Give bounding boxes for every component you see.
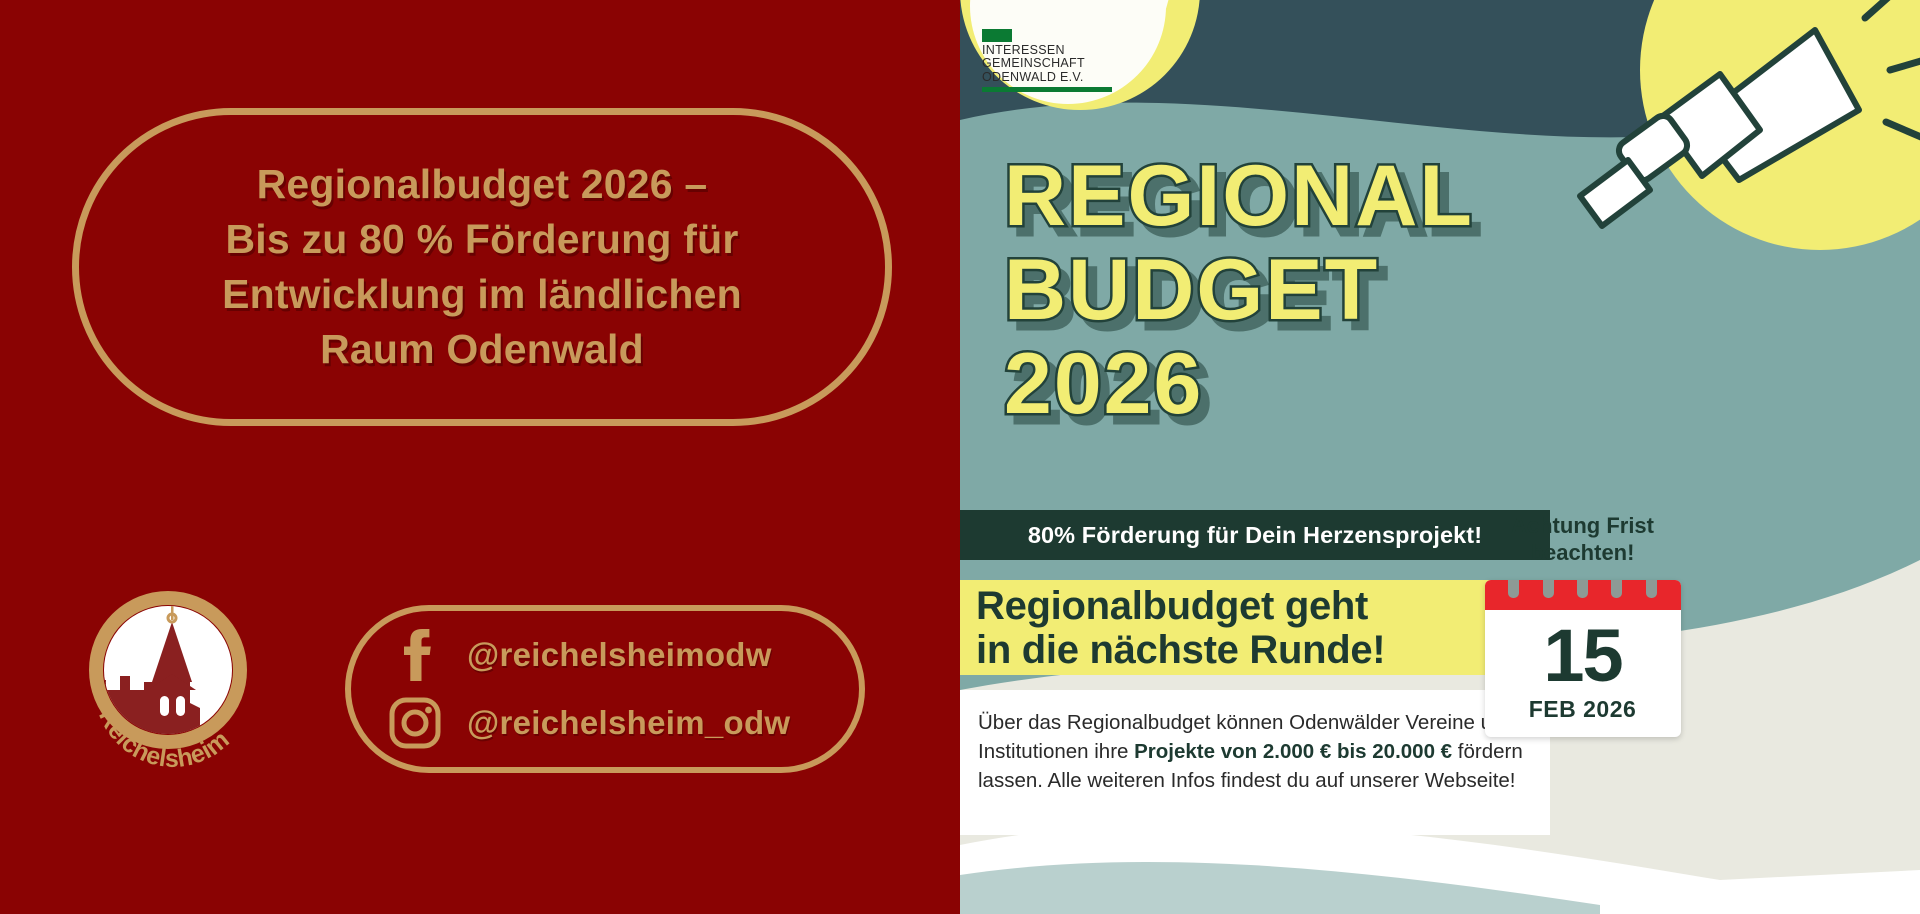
logo-line-2: GEMEINSCHAFT (982, 57, 1166, 71)
subsidy-banner-text: 80% Förderung für Dein Herzensprojekt! (1028, 522, 1482, 549)
body-paragraph: Über das Regionalbudget können Odenwälde… (978, 708, 1526, 795)
headline-text: Regionalbudget 2026 – Bis zu 80 % Förder… (152, 157, 812, 377)
calendar-icon: 15 FEB 2026 (1485, 580, 1681, 737)
deadline-heading: Achtung Frist beachten! (1460, 512, 1705, 566)
logo-line-3: ODENWALD E.V. (982, 71, 1166, 85)
headline-line-3: Entwicklung im ländlichen (152, 267, 812, 322)
headline-line-4: Raum Odenwald (152, 322, 812, 377)
reichelsheim-emblem: Reichelsheim (68, 578, 278, 788)
logo-green-bar (982, 87, 1112, 92)
calendar-ring (1543, 580, 1554, 598)
calendar-ring (1646, 580, 1657, 598)
poster-title-line-1: REGIONAL (1004, 160, 1624, 232)
poster-title-line-3: 2026 (1004, 348, 1624, 420)
calendar-ring (1611, 580, 1622, 598)
instagram-icon (389, 697, 441, 749)
instagram-handle: @reichelsheim_odw (467, 704, 790, 742)
poster-panel: INTERESSEN GEMEINSCHAFT ODENWALD E.V. RE… (960, 0, 1920, 914)
social-row-instagram[interactable]: @reichelsheim_odw (389, 692, 859, 754)
left-panel: Regionalbudget 2026 – Bis zu 80 % Förder… (0, 0, 960, 914)
poster-title-line-2: BUDGET (1004, 254, 1624, 326)
deadline-heading-line-2: beachten! (1460, 539, 1705, 566)
logo-green-square (982, 29, 1012, 42)
calendar-ring (1577, 580, 1588, 598)
social-row-facebook[interactable]: @reichelsheimodw (389, 624, 859, 686)
headline-line-1: Regionalbudget 2026 – (152, 157, 812, 212)
calendar-rings (1485, 580, 1681, 598)
poster-stage: Regionalbudget 2026 – Bis zu 80 % Förder… (0, 0, 1920, 914)
deadline-block: Achtung Frist beachten! 15 FEB 2026 (1460, 512, 1705, 737)
calendar-month-year: FEB 2026 (1485, 696, 1681, 737)
social-pill[interactable]: @reichelsheimodw @reichelsheim_odw (345, 605, 865, 773)
facebook-handle: @reichelsheimodw (467, 636, 772, 674)
headline-line-2: Bis zu 80 % Förderung für (152, 212, 812, 267)
logo-line-1: INTERESSEN (982, 44, 1166, 58)
calendar-ring (1508, 580, 1519, 598)
deadline-heading-line-1: Achtung Frist (1460, 512, 1705, 539)
poster-title: REGIONAL BUDGET 2026 (1004, 160, 1624, 442)
facebook-icon (389, 629, 441, 681)
calendar-day: 15 (1485, 610, 1681, 696)
body-bold: Projekte von 2.000 € bis 20.000 € (1134, 740, 1452, 763)
headline-pill: Regionalbudget 2026 – Bis zu 80 % Förder… (72, 108, 892, 426)
